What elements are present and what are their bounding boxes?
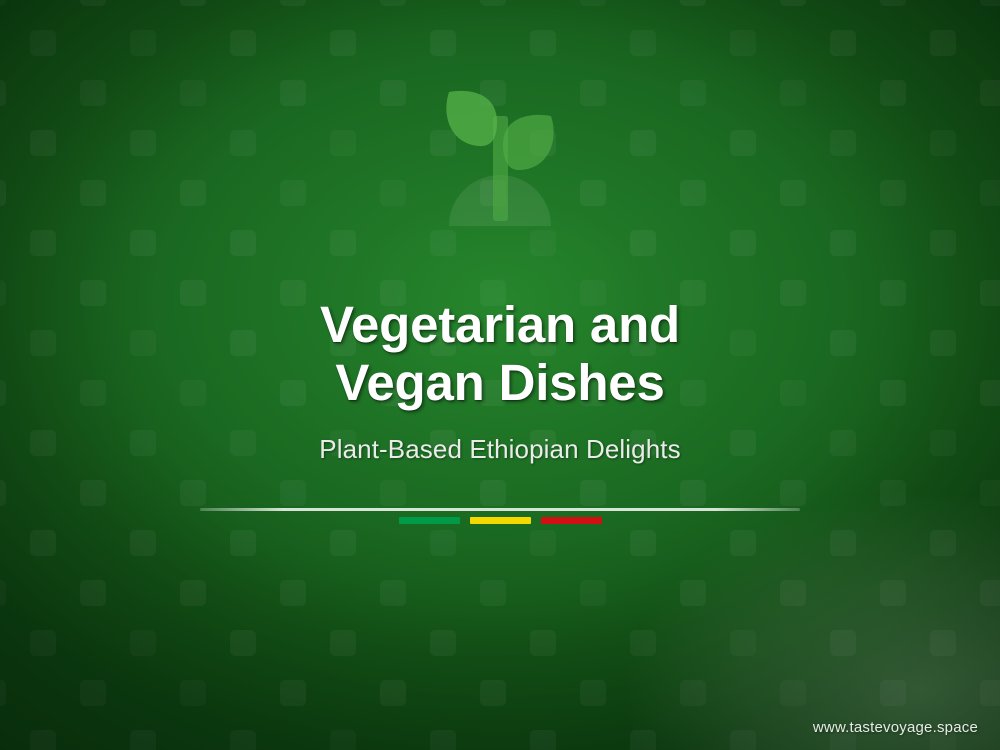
subtitle: Plant-Based Ethiopian Delights [0,434,1000,465]
title-line-1: Vegetarian and [0,296,1000,354]
accent-bar-ethiopia-green [399,517,460,524]
accent-bar-ethiopia-red [541,517,602,524]
ethiopian-flag-accent-bars [0,517,1000,524]
presentation-slide: Vegetarian and Vegan Dishes Plant-Based … [0,0,1000,750]
site-url: www.tastevoyage.space [813,719,978,736]
accent-bar-ethiopia-yellow [470,517,531,524]
title-block: Vegetarian and Vegan Dishes Plant-Based … [0,296,1000,465]
title-line-2: Vegan Dishes [0,354,1000,412]
divider-line [200,508,800,511]
page-title: Vegetarian and Vegan Dishes [0,296,1000,412]
